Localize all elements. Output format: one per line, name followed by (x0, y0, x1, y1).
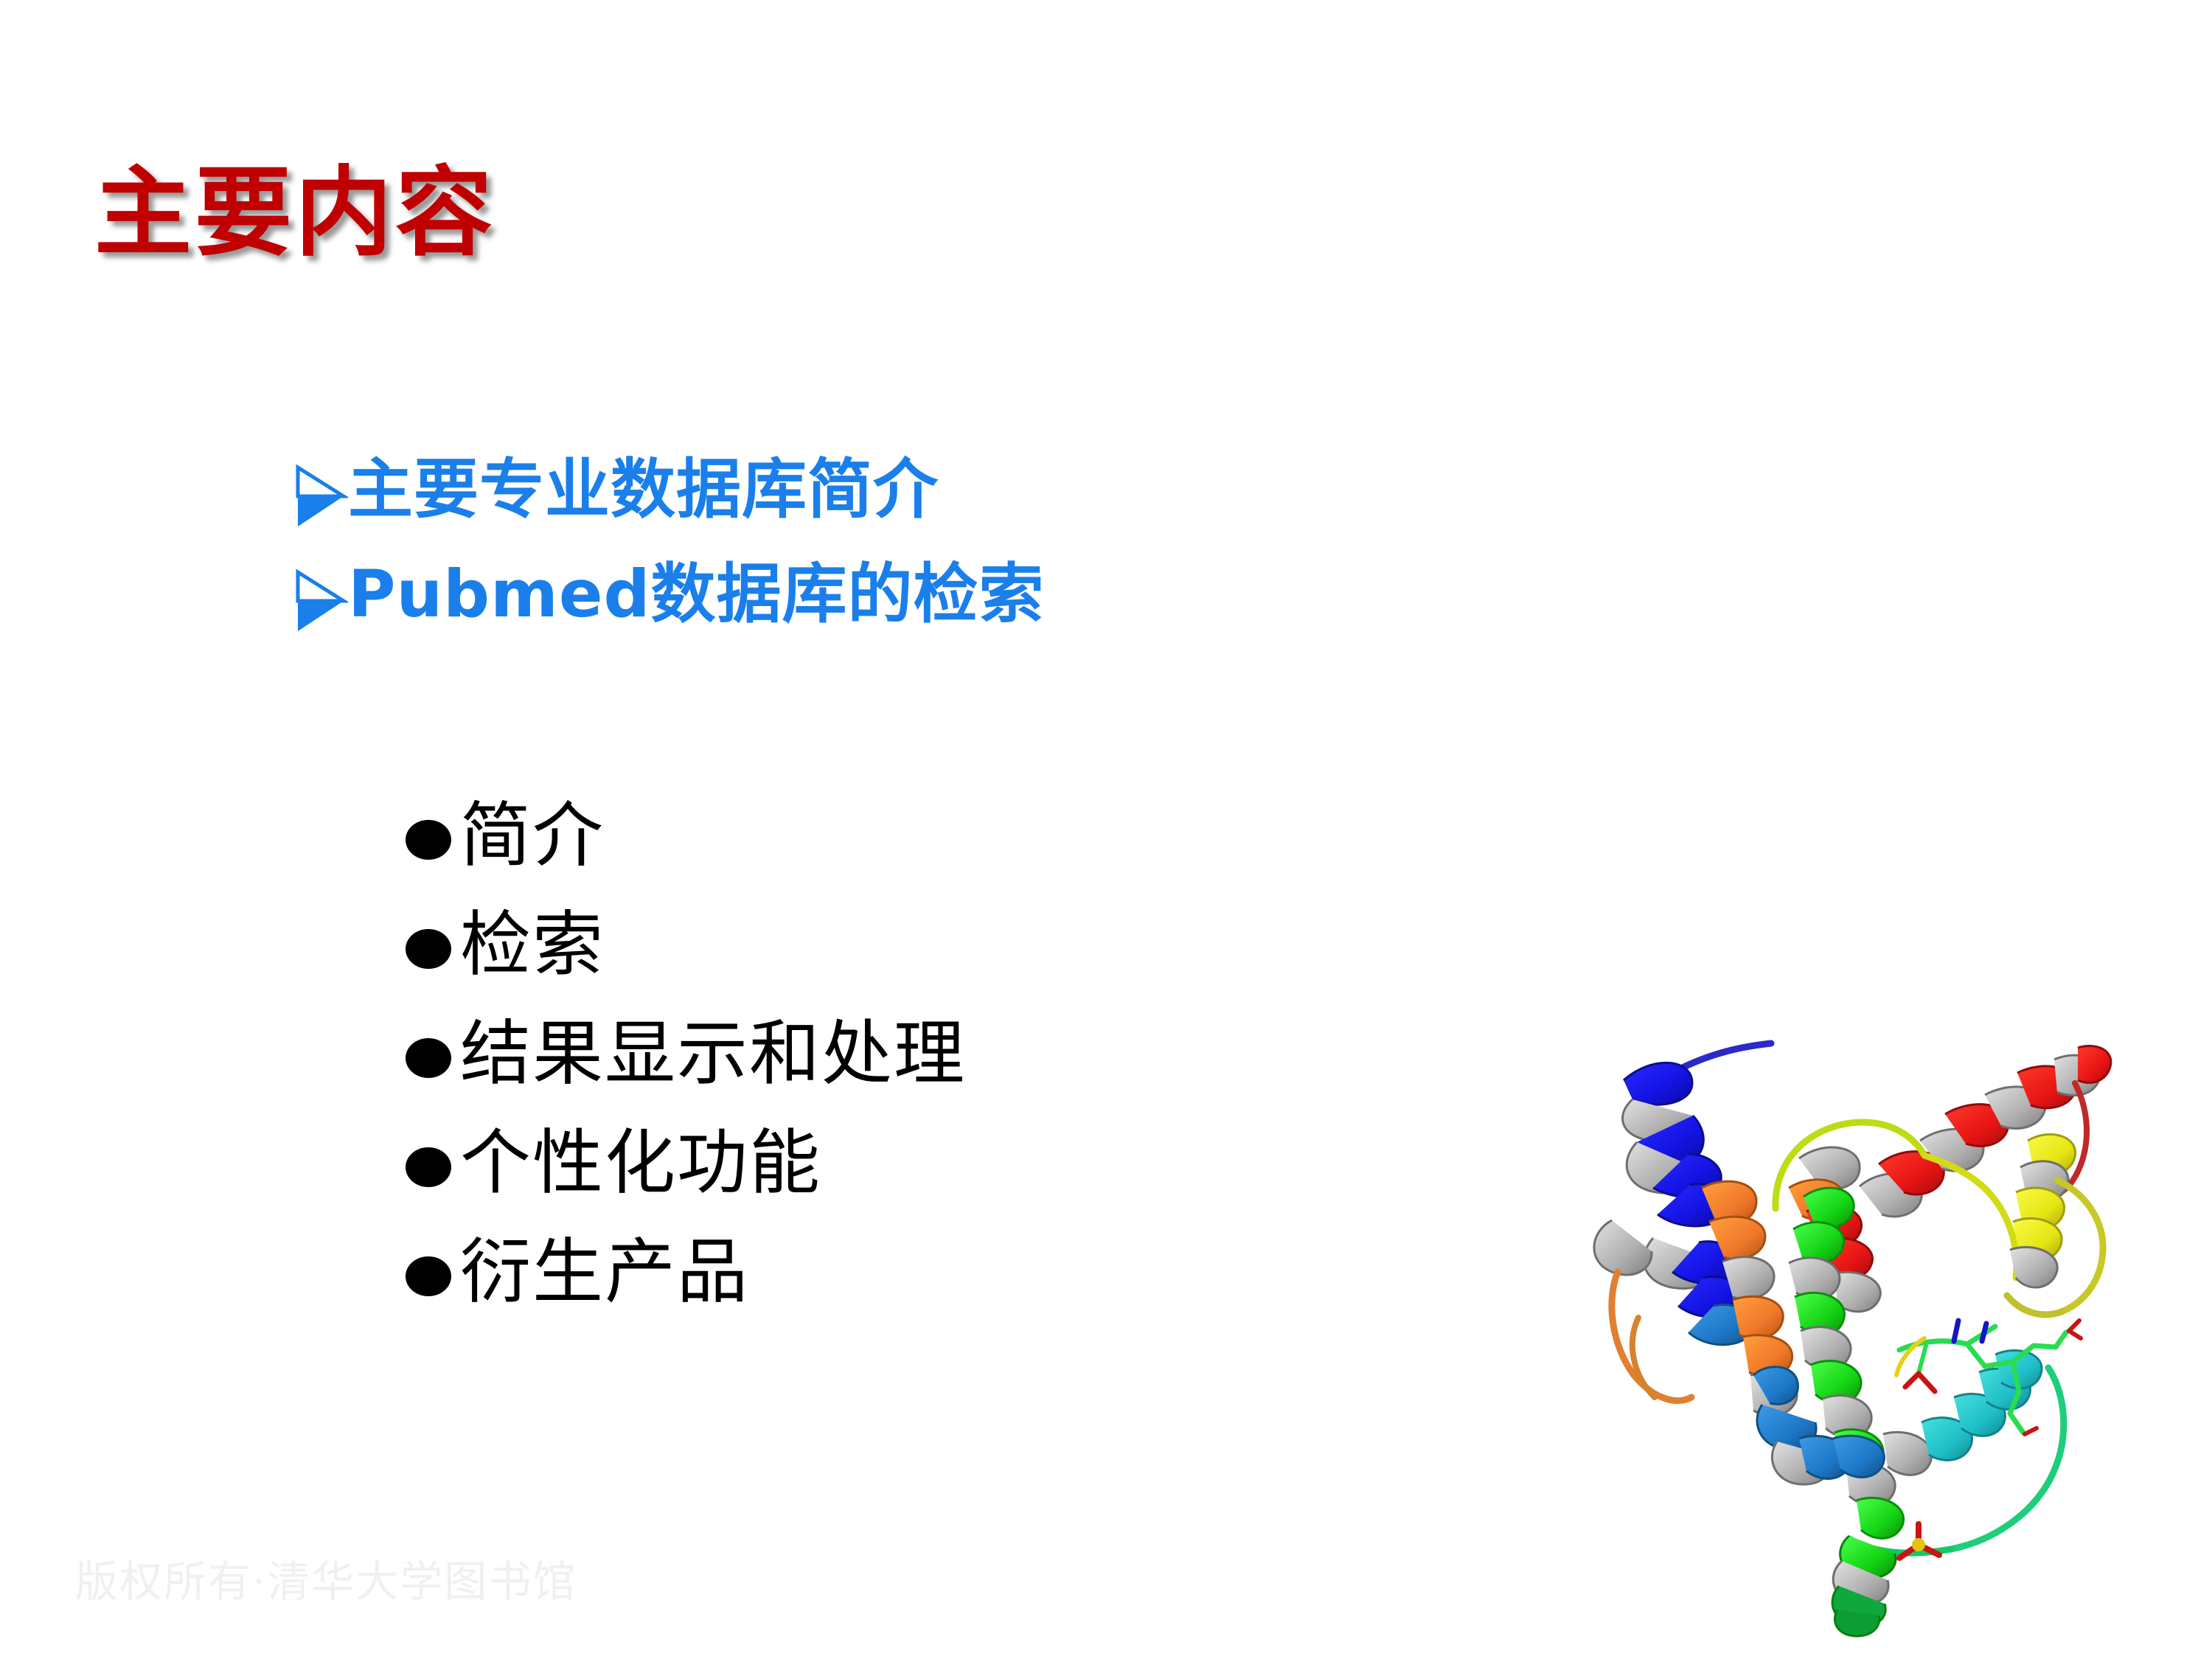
filled-circle-bullet-icon (404, 1013, 460, 1096)
list-item[interactable]: 主要专业数据库简介 (293, 451, 1399, 528)
list-item-label: Pubmed数据库的检索 (348, 556, 1045, 633)
list-item-label: 简介 (460, 795, 605, 877)
protein-ribbon-image (1541, 1029, 2146, 1641)
list-item-label: 个性化功能 (460, 1122, 821, 1204)
list-item[interactable]: Pubmed数据库的检索 (293, 556, 1399, 633)
list-item[interactable]: 简介 (404, 795, 1510, 904)
filled-circle-bullet-icon (404, 1122, 460, 1205)
list-item-label: 检索 (460, 904, 605, 986)
primary-bullet-list: 主要专业数据库简介 Pubmed数据库的检索 (293, 451, 1399, 661)
filled-circle-bullet-icon (404, 904, 460, 987)
filled-circle-bullet-icon (404, 795, 460, 877)
list-item-label: 主要专业数据库简介 (348, 451, 939, 528)
list-item[interactable]: 个性化功能 (404, 1122, 1510, 1231)
list-item[interactable]: 衍生产品 (404, 1231, 1510, 1340)
filled-circle-bullet-icon (404, 1231, 460, 1314)
copyright-watermark: 版权所有·清华大学图书馆 (75, 1547, 577, 1609)
slide-canvas: 主要内容 主要专业数据库简介 Pubmed数据库的检索 (0, 0, 2212, 1659)
list-item-label: 衍生产品 (460, 1231, 749, 1313)
arrow-right-bullet-icon (293, 463, 348, 531)
arrow-right-bullet-icon (293, 568, 348, 636)
secondary-bullet-list: 简介 检索 结果显示和处理 个性化功能 衍生产品 (404, 795, 1510, 1340)
list-item-label: 结果显示和处理 (460, 1013, 966, 1095)
page-title: 主要内容 (94, 161, 495, 266)
list-item[interactable]: 检索 (404, 904, 1510, 1013)
list-item[interactable]: 结果显示和处理 (404, 1013, 1510, 1122)
